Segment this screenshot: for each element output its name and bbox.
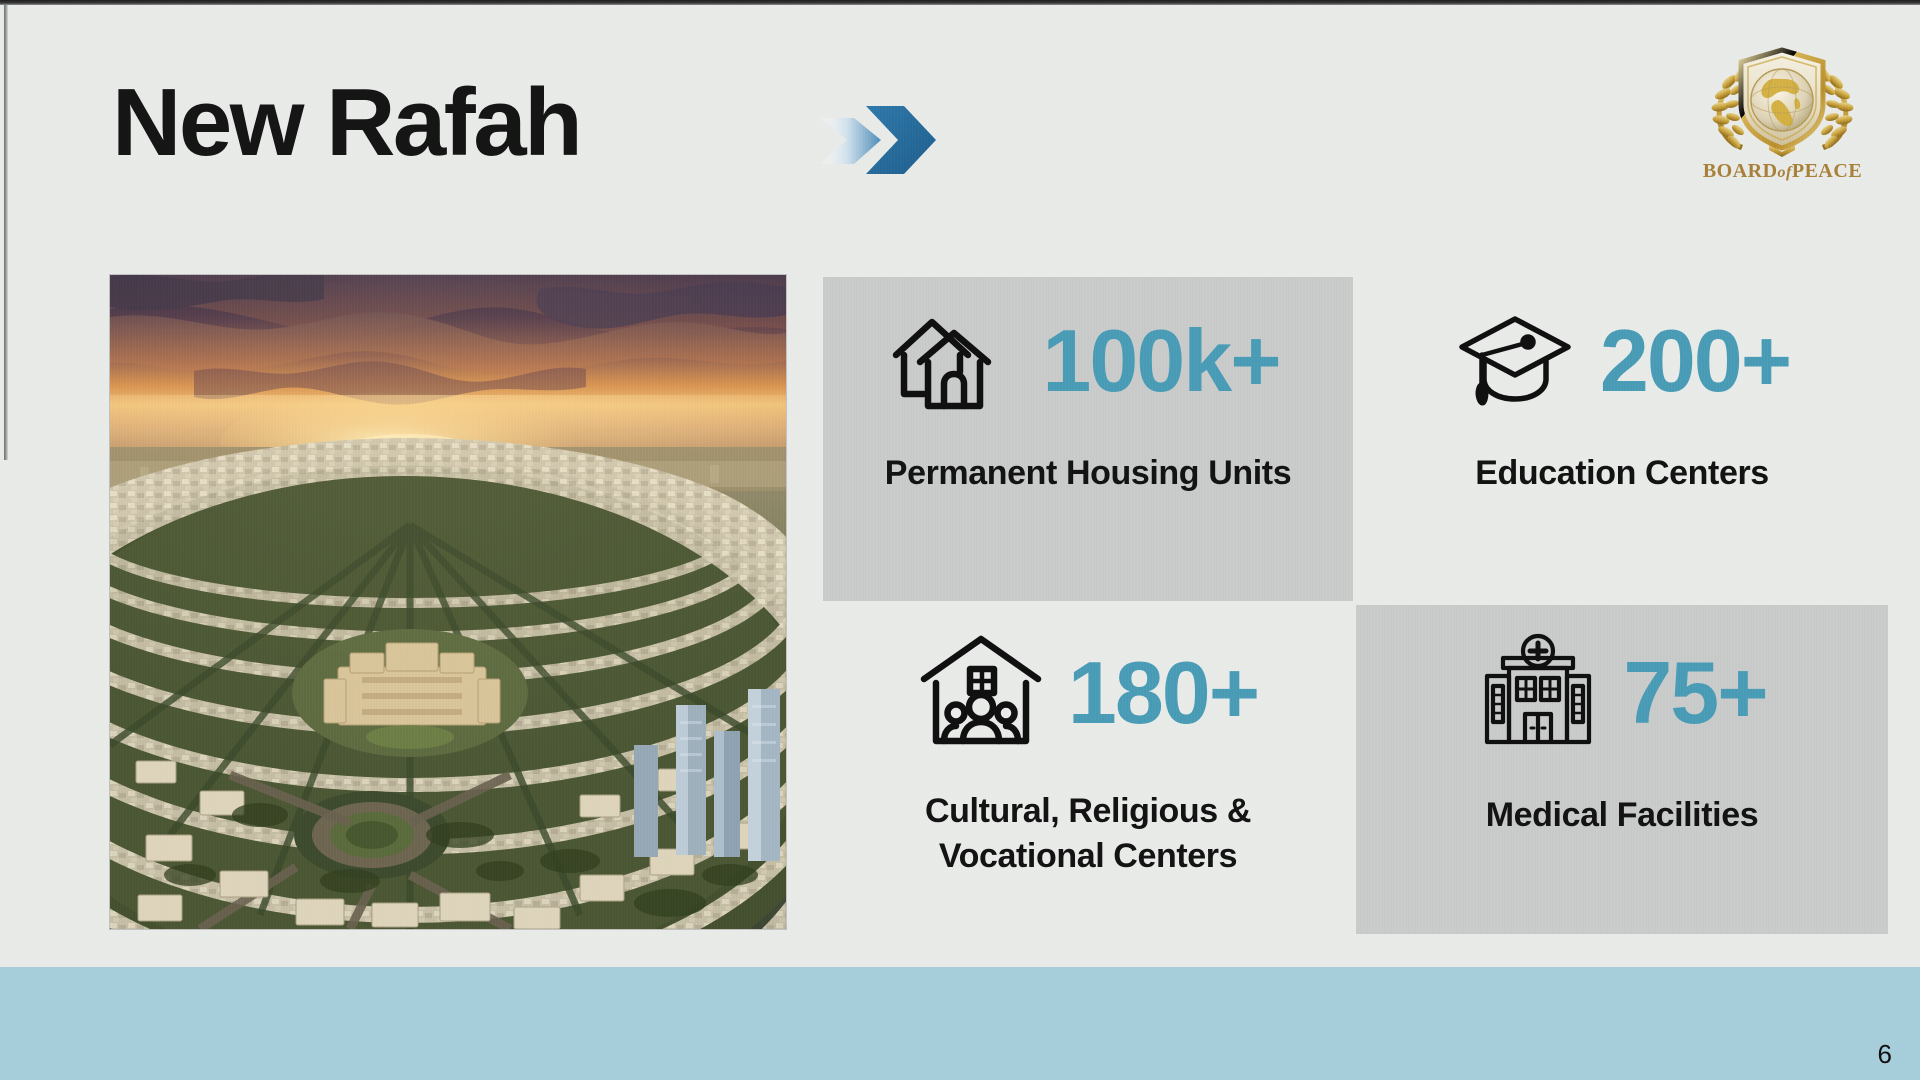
- stat-card-row: 180+: [823, 605, 1353, 781]
- stat-value: 180+: [1068, 649, 1258, 737]
- page-number: 6: [1878, 1039, 1892, 1070]
- double-chevron-right-icon: [818, 100, 938, 180]
- board-of-peace-logo: BOARDofPEACE: [1695, 38, 1870, 198]
- stat-card-row: 75+: [1356, 605, 1888, 781]
- page-title: New Rafah: [112, 75, 580, 171]
- slide-top-edge: [0, 0, 1920, 5]
- logo-word-board: BOARD: [1703, 160, 1778, 182]
- logo-word-of: of: [1778, 164, 1792, 181]
- stat-card-row: 100k+: [823, 277, 1353, 445]
- slide-canvas: New Rafah: [0, 0, 1920, 1080]
- hospital-building-icon: [1477, 632, 1599, 755]
- footer-band: [0, 967, 1920, 1080]
- stat-card-cultural-religious-vocational-centers[interactable]: 180+ Cultural, Religious & Vocational Ce…: [823, 605, 1353, 934]
- slide-left-edge: [4, 5, 8, 460]
- aerial-city-rendering: [110, 275, 786, 929]
- stat-label: Medical Facilities: [1476, 793, 1768, 838]
- stat-label: Cultural, Religious & Vocational Centers: [915, 789, 1261, 879]
- stat-label-line-1: Cultural, Religious &: [925, 792, 1251, 830]
- stat-label: Permanent Housing Units: [875, 451, 1301, 496]
- stat-value: 75+: [1623, 649, 1766, 737]
- graduation-cap-icon: [1454, 305, 1576, 418]
- stat-card-medical-facilities[interactable]: 75+ Medical Facilities: [1356, 605, 1888, 934]
- stat-card-row: 200+: [1356, 277, 1888, 445]
- stat-value: 200+: [1600, 317, 1790, 405]
- logo-wordmark: BOARDofPEACE: [1695, 160, 1870, 183]
- two-houses-icon: [890, 300, 1018, 423]
- stat-value: 100k+: [1042, 317, 1279, 405]
- shield-globe-laurel-icon: [1695, 38, 1870, 163]
- community-house-people-icon: [918, 631, 1044, 756]
- stats-grid: 100k+ Permanent Housing Units 200+: [823, 277, 1888, 934]
- logo-word-peace: PEACE: [1792, 160, 1862, 182]
- stat-card-education-centers[interactable]: 200+ Education Centers: [1356, 277, 1888, 601]
- stat-label-line-2: Vocational Centers: [939, 837, 1237, 875]
- stat-label: Education Centers: [1465, 451, 1779, 496]
- stat-card-permanent-housing-units[interactable]: 100k+ Permanent Housing Units: [823, 277, 1353, 601]
